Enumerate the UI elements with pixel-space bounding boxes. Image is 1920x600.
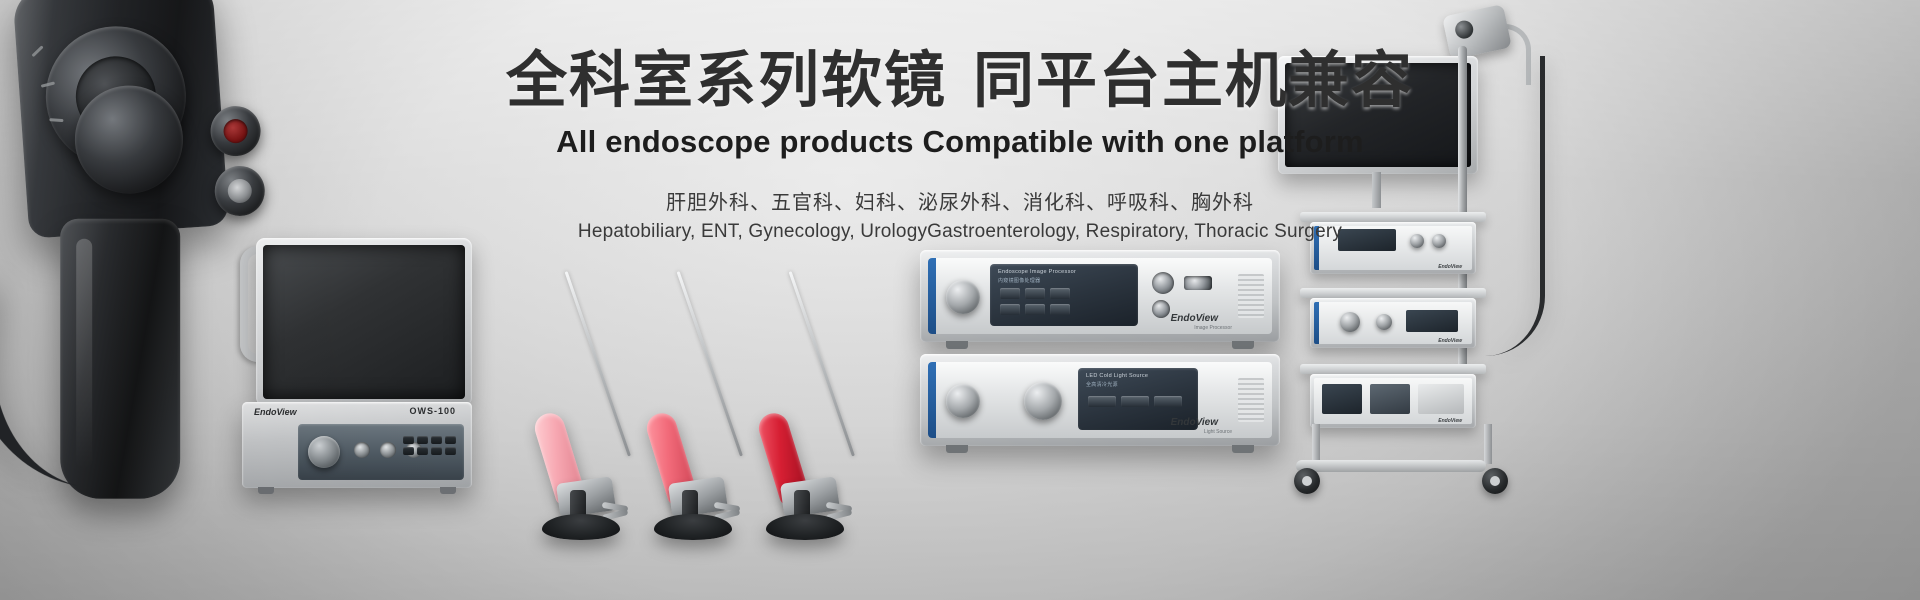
panel-title: Endoscope Image Processor	[998, 269, 1076, 275]
cart-base	[1296, 460, 1486, 472]
scope-dial-icon	[1454, 19, 1475, 40]
rigid-instrument-rose	[632, 310, 762, 540]
connector-port	[354, 442, 370, 458]
brand-label: EndoView	[1438, 264, 1462, 270]
brand-label: EndoView	[1438, 338, 1462, 344]
rigid-instrument-red	[744, 310, 874, 540]
promo-banner: EndoView OWS-100	[0, 0, 1920, 600]
instrument-shaft	[677, 271, 743, 456]
brand-label: EndoView	[1171, 417, 1218, 428]
display-bezel	[256, 238, 472, 406]
display-stand	[654, 514, 732, 540]
unit-foot	[946, 341, 968, 349]
image-processor-unit: Endoscope Image Processor 内窥镜图像处理器 EndoV…	[920, 250, 1280, 342]
cart-leg	[1312, 424, 1320, 464]
brand-label: EndoView	[254, 407, 297, 417]
unit-foot	[1232, 341, 1254, 349]
headline-part-1: 全科室系列软镜	[506, 46, 947, 114]
instrument-shaft	[565, 271, 631, 456]
display-stand	[542, 514, 620, 540]
cart-unit-3: EndoView	[1310, 374, 1476, 428]
light-source-unit: LED Cold Light Source 全高清冷光源 EndoView Li…	[920, 354, 1280, 446]
cart-shelf	[1300, 364, 1486, 374]
page-title: 全科室系列软镜同平台主机兼容	[0, 48, 1920, 114]
accent-stripe	[928, 362, 936, 438]
brand-label: EndoView	[1171, 313, 1218, 324]
module-c	[1418, 384, 1464, 414]
button-row[interactable]	[1000, 288, 1070, 315]
cart-caster-wheel	[1482, 468, 1508, 494]
keypad	[403, 436, 456, 455]
unit-sublabel: Image Processor	[1194, 325, 1232, 331]
cart-unit-2: EndoView	[1310, 298, 1476, 348]
usb-port	[1184, 276, 1212, 290]
button-row[interactable]	[1088, 396, 1182, 407]
aux-port	[1152, 300, 1170, 318]
module-b	[1370, 384, 1410, 414]
front-face: LED Cold Light Source 全高清冷光源 EndoView Li…	[928, 362, 1272, 438]
display-stand	[766, 514, 844, 540]
departments-chinese: 肝胆外科、五官科、妇科、泌尿外科、消化科、呼吸科、胸外科	[0, 186, 1920, 215]
control-knob	[1376, 314, 1392, 330]
cart-leg	[1484, 424, 1492, 464]
panel-title: LED Cold Light Source	[1086, 373, 1148, 379]
portable-endoscopy-workstation: EndoView OWS-100	[228, 238, 476, 488]
unit-foot	[946, 445, 968, 453]
subtitle-english: All endoscope products Compatible with o…	[0, 124, 1920, 160]
model-label: OWS-100	[409, 406, 456, 416]
brightness-knob	[1024, 382, 1062, 420]
instrument-head	[668, 476, 728, 517]
departments-english: Hepatobiliary, ENT, Gynecology, UrologyG…	[0, 221, 1920, 243]
control-knob	[1340, 312, 1360, 332]
brand-label: EndoView	[1438, 418, 1462, 424]
video-port	[1152, 272, 1174, 294]
instrument-head	[780, 476, 840, 517]
connector-port	[380, 442, 396, 458]
vent-grille	[1238, 274, 1264, 318]
display-screen	[263, 245, 465, 399]
front-face: Endoscope Image Processor 内窥镜图像处理器 EndoV…	[928, 258, 1272, 334]
banner-copy: 全科室系列软镜同平台主机兼容 All endoscope products Co…	[0, 48, 1920, 243]
unit-foot	[1232, 445, 1254, 453]
cart-shelf	[1300, 288, 1486, 298]
accent-stripe	[1314, 302, 1319, 344]
panel-title-cn: 内窥镜图像处理器	[998, 277, 1040, 284]
control-panel	[298, 424, 464, 480]
instrument-shaft	[789, 271, 855, 456]
rigid-instrument-pink	[520, 310, 650, 540]
panel-title-cn: 全高清冷光源	[1086, 381, 1118, 388]
processor-stack: Endoscope Image Processor 内窥镜图像处理器 EndoV…	[920, 250, 1280, 450]
cart-caster-wheel	[1294, 468, 1320, 494]
power-knob	[946, 384, 980, 418]
control-cluster	[1406, 310, 1458, 332]
control-cluster: Endoscope Image Processor 内窥镜图像处理器	[990, 264, 1138, 326]
instrument-head	[556, 476, 616, 517]
base-foot	[258, 487, 274, 494]
scope-umbilical-cable	[0, 279, 179, 493]
unit-sublabel: Light Source	[1204, 429, 1232, 435]
headline-part-2: 同平台主机兼容	[973, 46, 1414, 114]
vent-grille	[1238, 378, 1264, 422]
module-a	[1322, 384, 1362, 414]
accent-stripe	[928, 258, 936, 334]
power-knob	[946, 280, 980, 314]
main-knob	[308, 436, 340, 468]
base-foot	[440, 487, 456, 494]
workstation-base: EndoView OWS-100	[242, 402, 472, 488]
